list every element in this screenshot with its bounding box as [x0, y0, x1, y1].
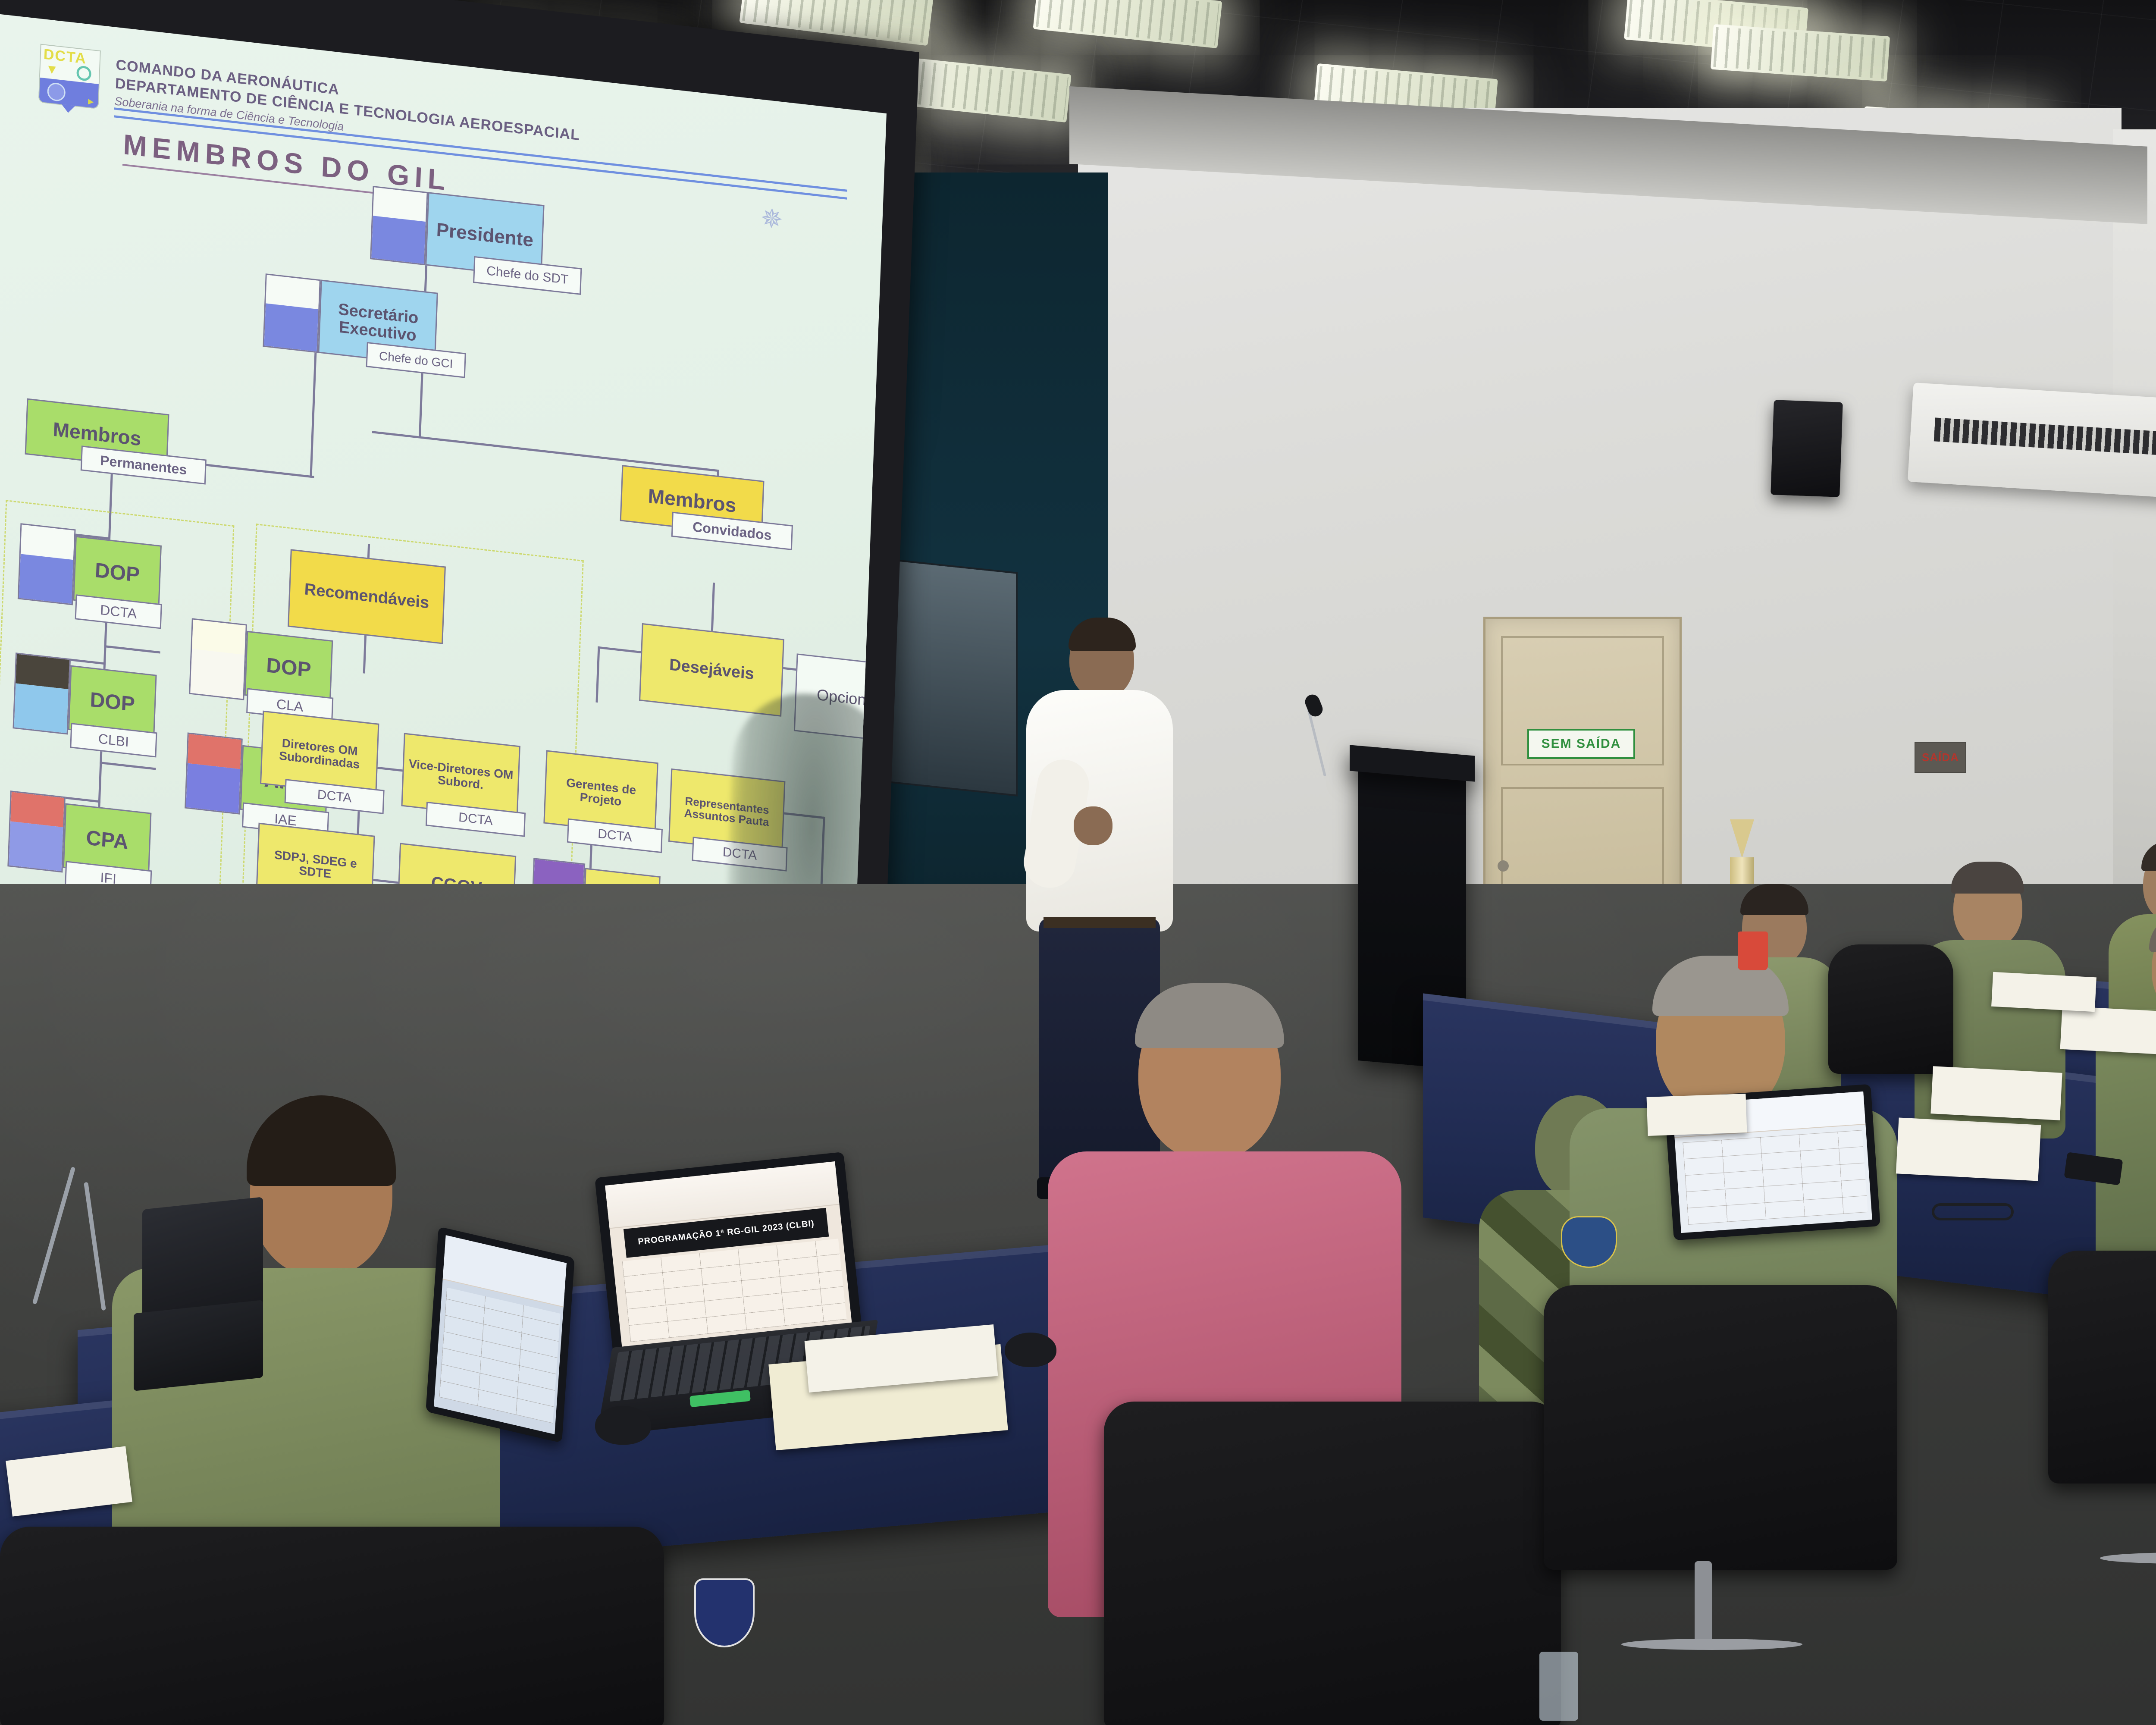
org-connector	[595, 646, 600, 703]
spreadsheet-grid[interactable]	[1683, 1130, 1868, 1225]
wall-recess-panel	[880, 558, 1018, 797]
red-cup[interactable]	[1738, 931, 1768, 970]
conference-room-photo: SEM SAÍDA SAÍDA DCTA ▼ ▸ COMANDO DA	[0, 0, 2156, 1725]
crest-dcta-president	[370, 186, 428, 265]
crest-wing-icon: ▼	[45, 62, 59, 78]
paper-sheet[interactable]	[2060, 1006, 2156, 1056]
crest-band-lower	[186, 763, 240, 813]
air-conditioner-vent	[1934, 418, 2156, 464]
crest-dcta	[18, 523, 76, 605]
crest-band-lower	[371, 216, 426, 264]
chair-post	[1695, 1561, 1712, 1647]
rocket-nose-cone	[1730, 819, 1754, 858]
air-force-wing-icon: ✵	[760, 202, 783, 236]
office-chair[interactable]	[0, 1527, 664, 1725]
spreadsheet-grid[interactable]	[439, 1288, 561, 1424]
office-chair[interactable]	[2048, 1251, 2156, 1483]
crest-band-lower	[264, 303, 318, 351]
crest-iae	[185, 732, 243, 814]
crest-band-lower	[190, 649, 244, 699]
computer-mouse[interactable]	[1005, 1333, 1056, 1367]
door-sign-no-exit: SEM SAÍDA	[1527, 729, 1635, 759]
node-desejaveis: Desejáveis	[639, 623, 784, 717]
wall-speaker	[1771, 400, 1843, 497]
office-chair[interactable]	[1828, 944, 1953, 1074]
slide-header: DCTA ▼ ▸ COMANDO DA AERONÁUTICA DEPARTAM…	[41, 44, 825, 132]
node-secretario-sub: Chefe do GCI	[366, 342, 466, 378]
eyeglasses[interactable]	[1932, 1203, 2014, 1220]
office-chair[interactable]	[1104, 1402, 1561, 1725]
crest-band-lower	[14, 683, 69, 733]
av-equipment-box	[134, 1300, 263, 1391]
node-presidente-sub: Chefe do SDT	[473, 256, 582, 295]
crest-band-lower	[19, 554, 73, 604]
crest-ifi	[7, 790, 66, 872]
computer-mouse[interactable]	[595, 1406, 651, 1445]
office-chair[interactable]	[1544, 1285, 1897, 1570]
presenter-hand	[1074, 806, 1112, 845]
unit-shoulder-patch	[1561, 1216, 1617, 1268]
crest-chevron-icon: ▸	[88, 94, 94, 108]
unit-shoulder-patch	[694, 1578, 755, 1647]
org-connector	[310, 353, 317, 478]
water-bottle[interactable]	[1539, 1652, 1578, 1721]
laptop-screen[interactable]	[434, 1235, 567, 1434]
paper-sheet[interactable]	[1646, 1094, 1747, 1136]
crest-clbi	[13, 652, 71, 734]
laptop-screen[interactable]: PROGRAMAÇÃO 1ª RG-GIL 2023 (CLBI)	[605, 1161, 852, 1353]
paper-sheet[interactable]	[1991, 972, 2096, 1012]
dcta-crest-icon: DCTA ▼ ▸	[38, 44, 101, 116]
org-connector	[419, 364, 423, 438]
crest-dcta-secretary	[263, 273, 320, 353]
presenter-belt	[1044, 917, 1156, 928]
door-knob[interactable]	[1498, 860, 1509, 872]
org-connector	[372, 431, 717, 472]
laptop-lid	[426, 1226, 575, 1443]
crest-cla	[189, 618, 247, 700]
paper-sheet[interactable]	[1896, 1117, 2041, 1181]
paper-sheet[interactable]	[1930, 1066, 2062, 1120]
crest-band-lower	[9, 821, 63, 871]
wall-sign-exit-red: SAÍDA	[1915, 742, 1966, 773]
chair-base	[1621, 1639, 1802, 1650]
